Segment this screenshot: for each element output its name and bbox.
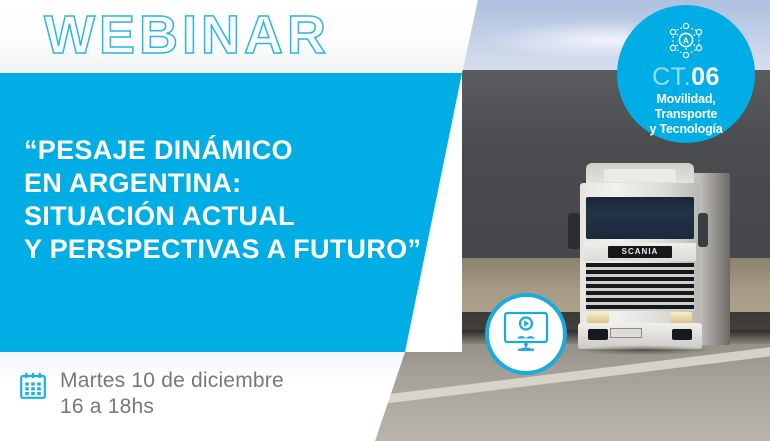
commission-subtitle: Movilidad, Transporte y Tecnología [617,92,755,137]
calendar-icon [20,372,46,399]
truck-brand-label: SCANIA [608,246,672,258]
commission-code: CT.06 [617,64,755,90]
commission-code-prefix: CT. [652,63,691,91]
svg-text:A: A [683,36,689,46]
page-title: “PESAJE DINÁMICO EN ARGENTINA: SITUACIÓN… [24,134,494,266]
webinar-kicker: WEBINAR [44,4,330,66]
commission-code-number: 06 [691,63,720,91]
webinar-banner: SCANIA WEBINAR “PESAJE DINÁMICO EN ARGEN… [0,0,770,441]
webinar-play-badge [485,293,567,375]
network-nodes-icon: A [663,22,709,62]
event-date-text: Martes 10 de diciembre 16 a 18hs [60,368,284,420]
commission-badge: A CT.06 Movilidad, Transporte y Tecnolog… [617,5,755,143]
webinar-monitor-play-icon [503,311,549,358]
date-row: Martes 10 de diciembre 16 a 18hs [20,368,284,420]
truck-illustration: SCANIA [560,155,740,360]
